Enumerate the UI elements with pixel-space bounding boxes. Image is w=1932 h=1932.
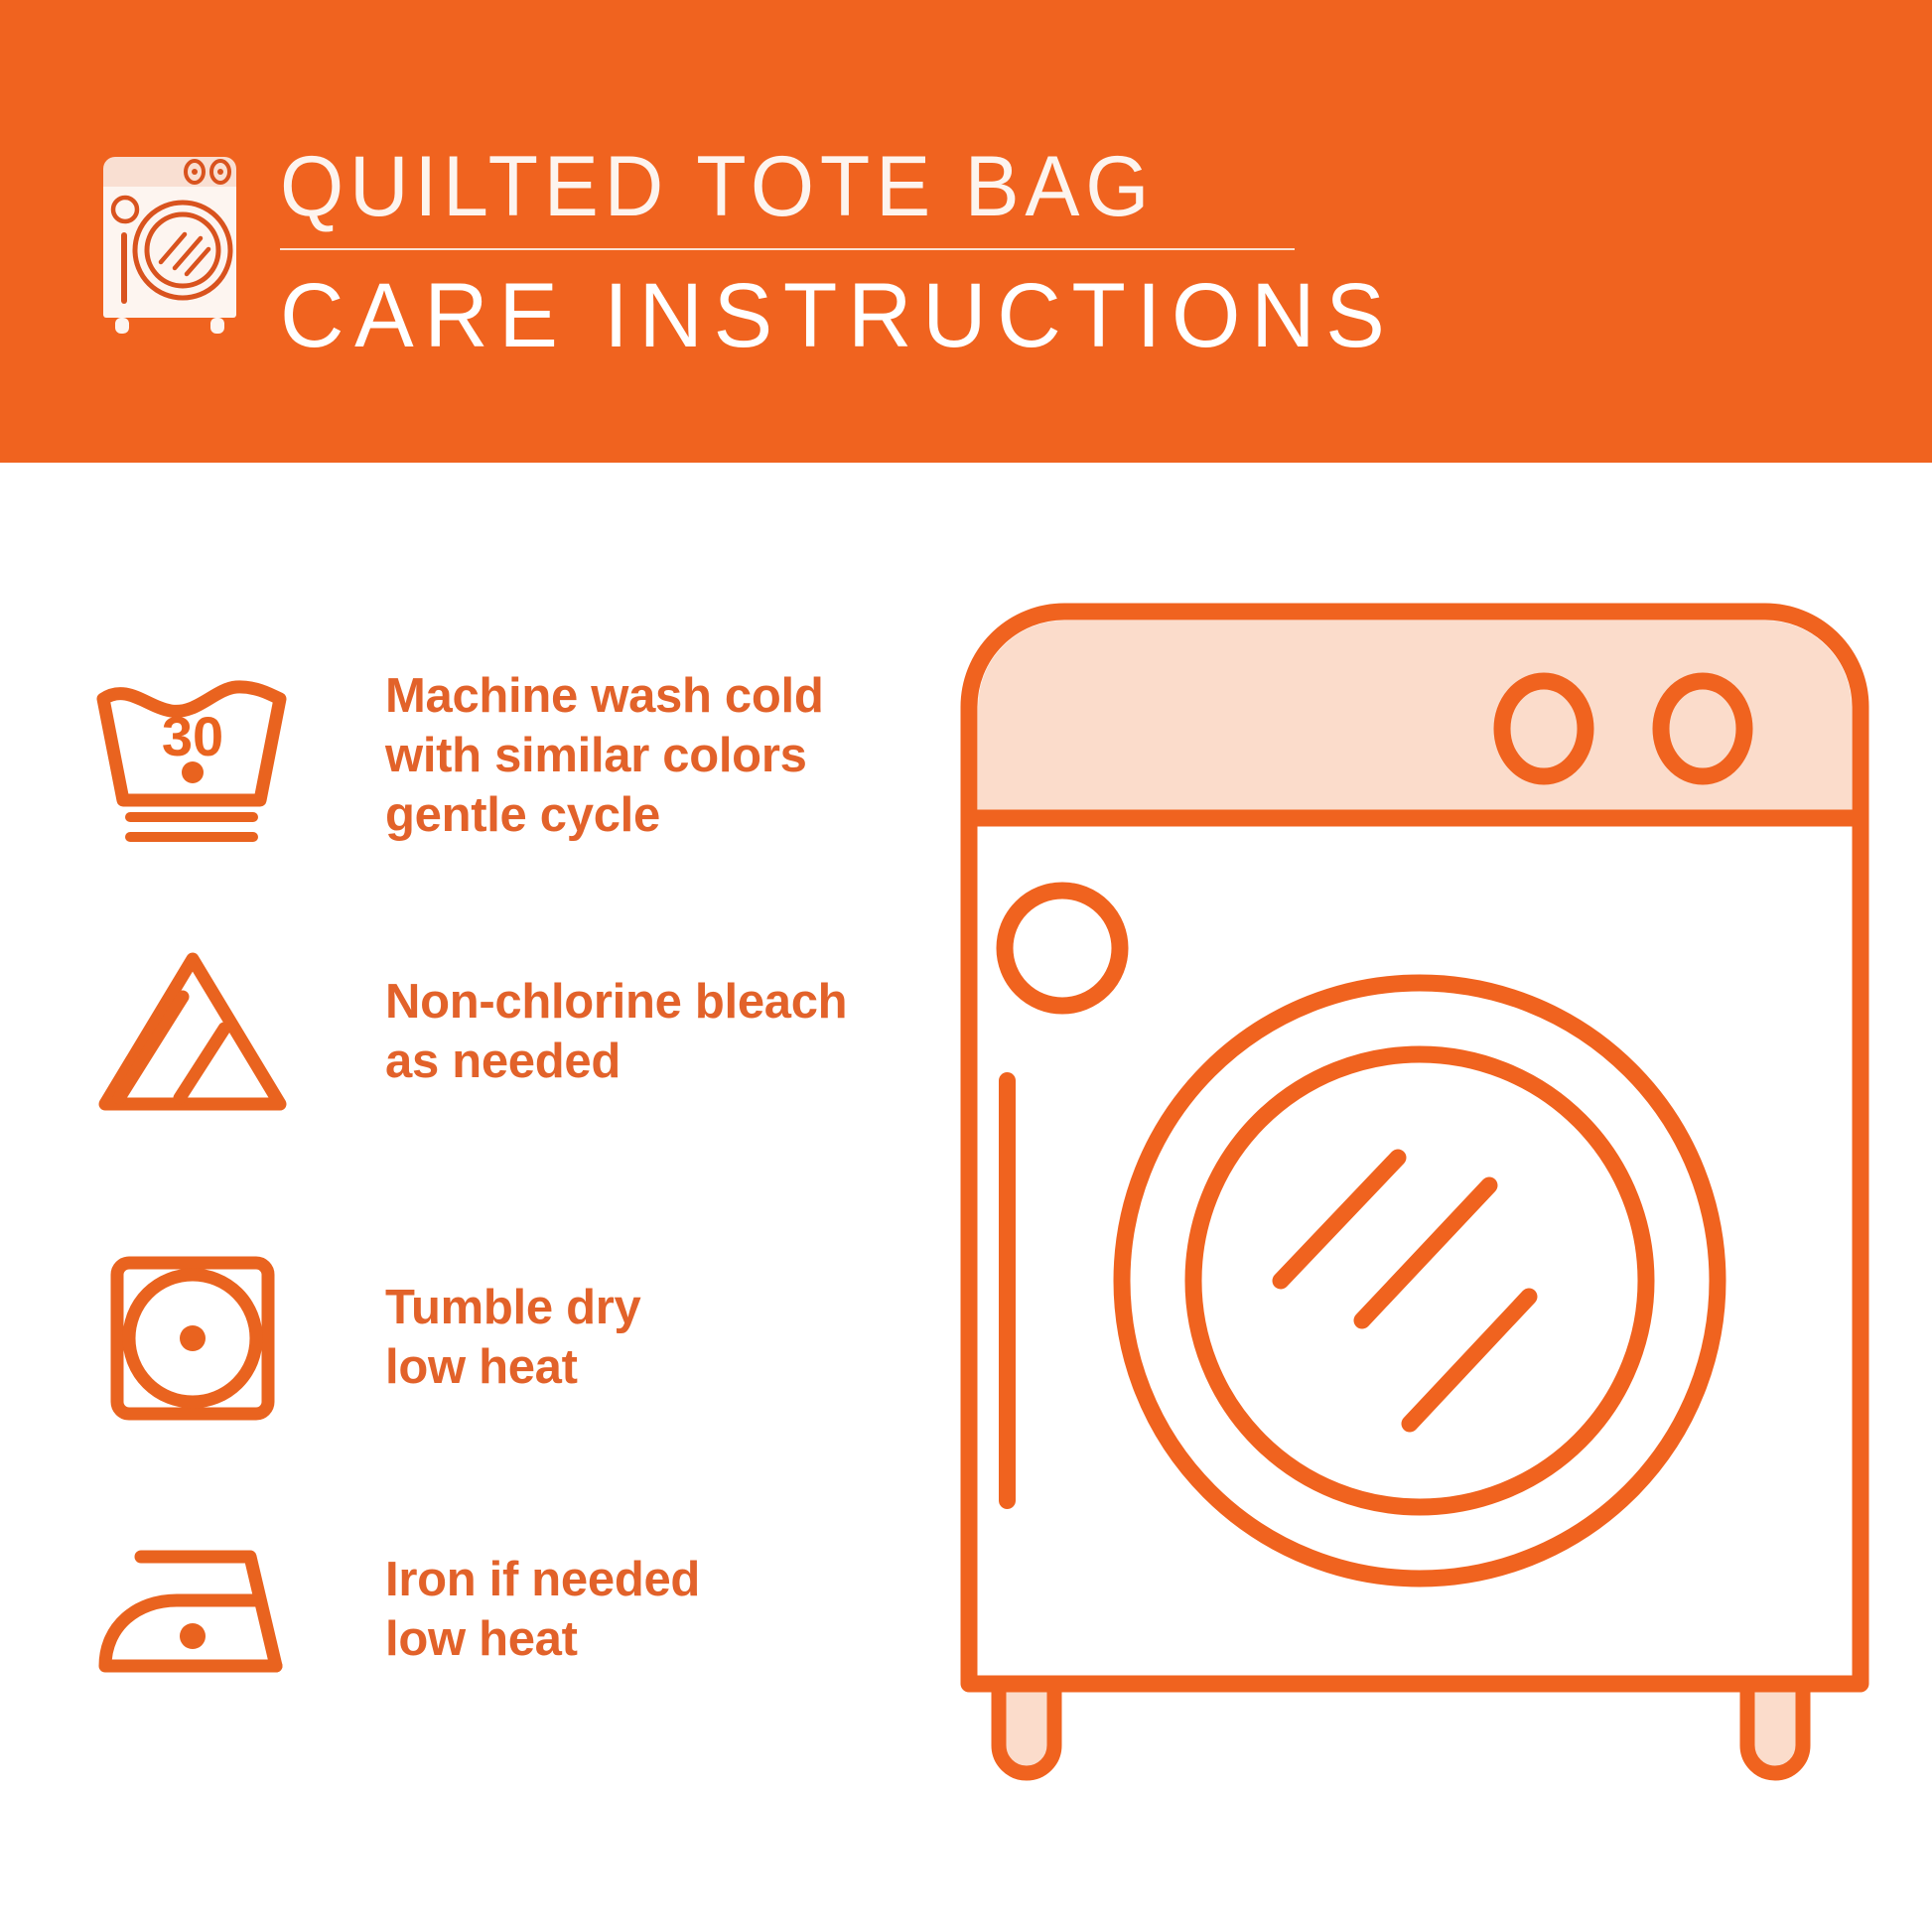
care-label-iron: Iron if needed low heat	[385, 1550, 700, 1669]
care-label-bleach: Non-chlorine bleach as needed	[385, 972, 847, 1091]
page-title-secondary: CARE INSTRUCTIONS	[280, 266, 1395, 365]
care-line: with similar colors	[385, 726, 823, 785]
care-line: Non-chlorine bleach	[385, 972, 847, 1032]
indicator-light	[1005, 891, 1120, 1006]
care-line: Machine wash cold	[385, 666, 823, 726]
care-row-machine-wash: 30 Machine wash cold with similar colors…	[85, 661, 919, 850]
washing-machine-icon	[87, 147, 262, 338]
wash-tub-30-gentle-icon: 30	[85, 661, 300, 850]
svg-text:30: 30	[162, 705, 223, 767]
care-label-machine-wash: Machine wash cold with similar colors ge…	[385, 666, 823, 845]
door-handle	[999, 1072, 1016, 1509]
care-label-tumble-dry: Tumble dry low heat	[385, 1278, 640, 1397]
washing-machine-illustration	[953, 596, 1932, 1866]
care-line: as needed	[385, 1032, 847, 1091]
care-row-bleach: Non-chlorine bleach as needed	[85, 937, 919, 1126]
care-instruction-list: 30 Machine wash cold with similar colors…	[0, 463, 953, 1932]
non-chlorine-bleach-triangle-icon	[85, 937, 300, 1126]
care-line: Iron if needed	[385, 1550, 700, 1609]
care-row-tumble-dry: Tumble dry low heat	[85, 1243, 919, 1432]
dial-right	[1661, 681, 1744, 776]
header-content: QUILTED TOTE BAG CARE INSTRUCTIONS	[87, 137, 1430, 365]
care-line: gentle cycle	[385, 785, 823, 845]
care-line: low heat	[385, 1609, 700, 1669]
header-banner: QUILTED TOTE BAG CARE INSTRUCTIONS	[0, 0, 1932, 463]
title-divider	[280, 248, 1295, 250]
care-line: low heat	[385, 1337, 640, 1397]
dial-left	[1502, 681, 1586, 776]
page-title-primary: QUILTED TOTE BAG	[280, 139, 1384, 234]
care-line: Tumble dry	[385, 1278, 640, 1337]
tumble-dry-low-icon	[85, 1243, 300, 1432]
title-block: QUILTED TOTE BAG CARE INSTRUCTIONS	[280, 137, 1430, 365]
care-row-iron: Iron if needed low heat	[85, 1515, 919, 1704]
iron-low-heat-icon	[85, 1515, 300, 1704]
